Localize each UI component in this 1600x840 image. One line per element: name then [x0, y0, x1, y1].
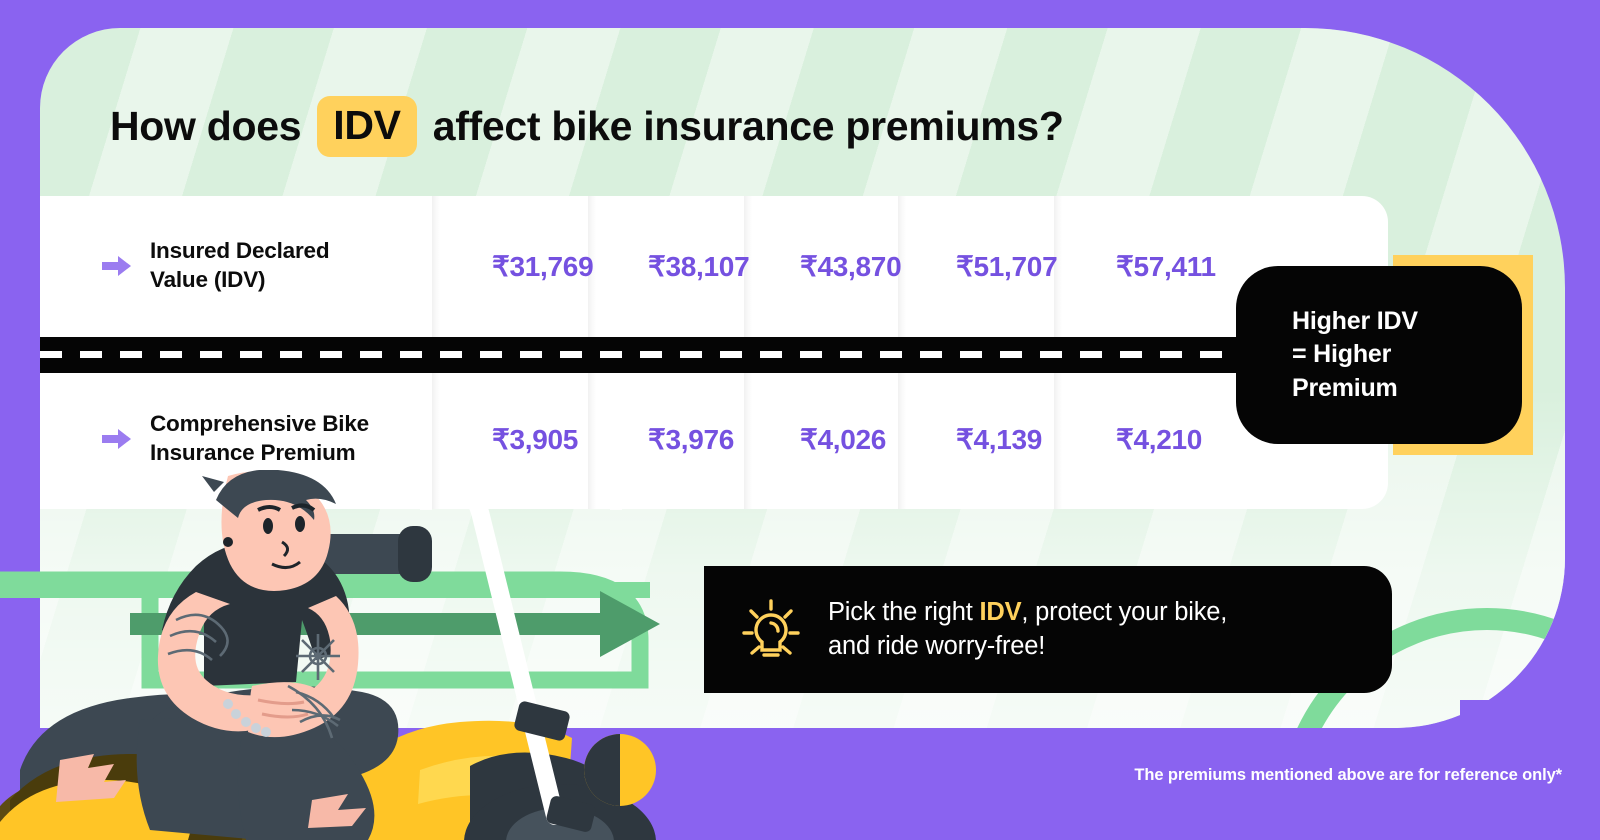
arrow-right-icon	[102, 255, 132, 277]
title-text-after: affect bike insurance premiums?	[433, 103, 1064, 150]
row-label-premium: Comprehensive Bike Insurance Premium	[40, 410, 436, 468]
row-label-premium-text: Comprehensive Bike Insurance Premium	[150, 410, 369, 468]
cell-premium-5: ₹4,210	[1058, 423, 1218, 456]
cell-idv-1: ₹31,769	[436, 250, 592, 283]
row-label-line1: Comprehensive Bike	[150, 410, 369, 439]
tip-line-1: Pick the right IDV, protect your bike,	[828, 596, 1227, 630]
table-row-idv: Insured Declared Value (IDV) ₹31,769 ₹38…	[40, 196, 1388, 336]
tip-line1-highlight: IDV	[979, 598, 1021, 626]
higher-idv-badge: Higher IDV = Higher Premium	[1236, 266, 1522, 444]
row-label-line1: Insured Declared	[150, 237, 329, 266]
tip-line-2: and ride worry-free!	[828, 630, 1227, 664]
badge-line1: Higher IDV	[1292, 305, 1418, 338]
cell-idv-2: ₹38,107	[592, 250, 748, 283]
tip-banner-text: Pick the right IDV, protect your bike, a…	[828, 596, 1227, 663]
cell-idv-5: ₹57,411	[1058, 250, 1218, 283]
row-label-idv-text: Insured Declared Value (IDV)	[150, 237, 329, 295]
badge-line3: Premium	[1292, 372, 1418, 405]
cell-premium-1: ₹3,905	[436, 423, 592, 456]
row-label-line2: Insurance Premium	[150, 439, 369, 468]
row-label-idv: Insured Declared Value (IDV)	[40, 237, 436, 295]
badge-line2: = Higher	[1292, 338, 1418, 371]
tip-line1-post: , protect your bike,	[1021, 598, 1227, 626]
page-title: How does IDV affect bike insurance premi…	[110, 96, 1064, 157]
cell-premium-3: ₹4,026	[748, 423, 902, 456]
footnote-disclaimer: The premiums mentioned above are for ref…	[1134, 766, 1562, 785]
title-idv-chip: IDV	[317, 96, 416, 157]
cell-idv-4: ₹51,707	[902, 250, 1058, 283]
row-label-line2: Value (IDV)	[150, 266, 329, 295]
road-divider	[40, 337, 1388, 373]
title-text-before: How does	[110, 103, 301, 150]
tip-banner: Pick the right IDV, protect your bike, a…	[704, 566, 1392, 693]
tip-line1-pre: Pick the right	[828, 598, 979, 626]
arrow-right-icon	[102, 428, 132, 450]
cell-premium-4: ₹4,139	[902, 423, 1058, 456]
higher-idv-badge-text: Higher IDV = Higher Premium	[1236, 305, 1418, 405]
biker-illustration	[0, 470, 780, 840]
road-dashed-line	[40, 351, 1388, 358]
lightbulb-icon	[740, 595, 802, 665]
rider	[56, 470, 374, 840]
cell-idv-3: ₹43,870	[748, 250, 902, 283]
cell-premium-2: ₹3,976	[592, 423, 748, 456]
